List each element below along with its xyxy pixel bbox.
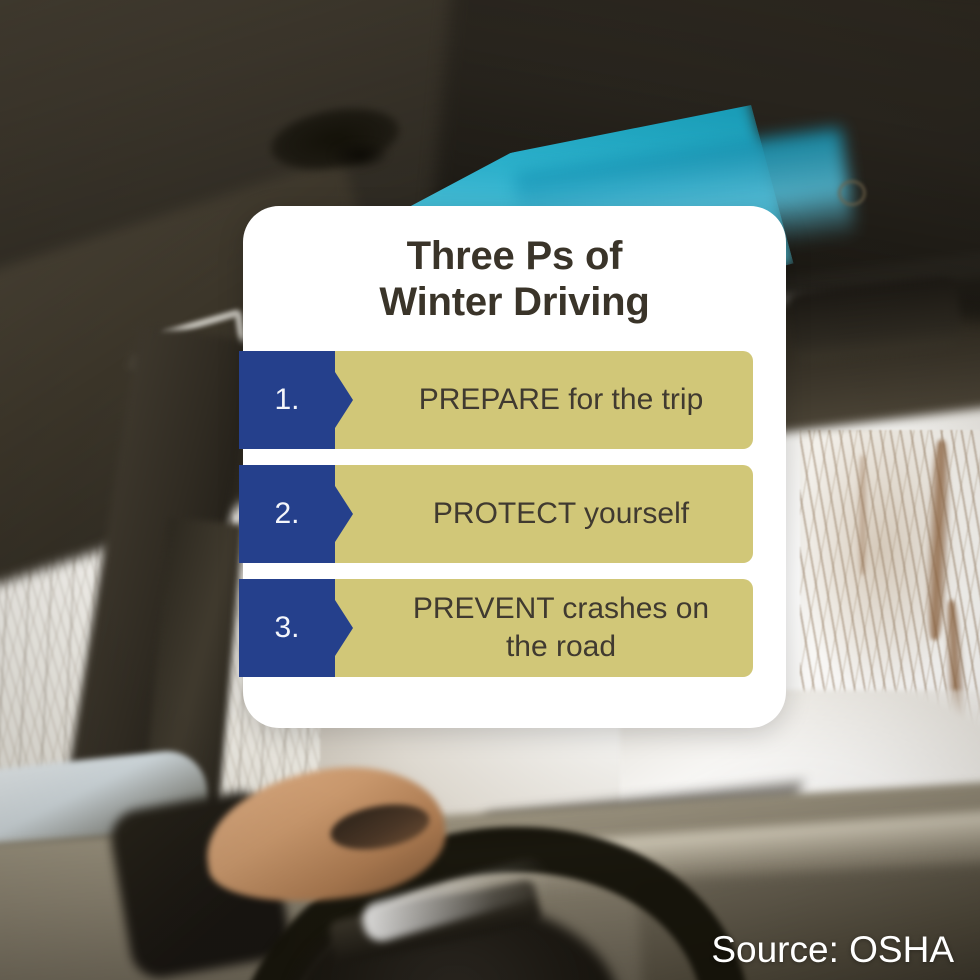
step-number-badge-1: 1. xyxy=(239,351,335,449)
step-number-label-2: 2. xyxy=(274,499,299,529)
step-text-bar-2: PROTECT yourself xyxy=(335,465,753,563)
step-text-3: PREVENT crashes on the road xyxy=(395,590,727,666)
infographic-canvas: Three Ps of Winter Driving 1. PREPARE fo… xyxy=(0,0,980,980)
step-text-bar-3: PREVENT crashes on the road xyxy=(335,579,753,677)
step-text-2: PROTECT yourself xyxy=(433,495,689,533)
step-item-1: 1. PREPARE for the trip xyxy=(239,351,753,449)
tips-card: Three Ps of Winter Driving 1. PREPARE fo… xyxy=(243,206,786,728)
step-text-bar-1: PREPARE for the trip xyxy=(335,351,753,449)
step-number-badge-2: 2. xyxy=(239,465,335,563)
tree-trunk xyxy=(858,455,867,575)
step-item-2: 2. PROTECT yourself xyxy=(239,465,753,563)
step-number-label-1: 1. xyxy=(274,385,299,415)
dome-light-lens xyxy=(330,140,390,170)
step-number-badge-3: 3. xyxy=(239,579,335,677)
step-item-3: 3. PREVENT crashes on the road xyxy=(239,579,753,677)
step-text-1: PREPARE for the trip xyxy=(419,381,704,419)
step-number-label-3: 3. xyxy=(274,613,299,643)
card-title-line-2: Winter Driving xyxy=(277,280,752,326)
windshield-sensor-dot xyxy=(838,180,866,206)
steps-list: 1. PREPARE for the trip 2. PROTECT yours… xyxy=(239,351,753,677)
card-title-line-1: Three Ps of xyxy=(277,234,752,280)
card-title: Three Ps of Winter Driving xyxy=(243,206,786,325)
source-attribution: Source: OSHA xyxy=(711,931,954,968)
